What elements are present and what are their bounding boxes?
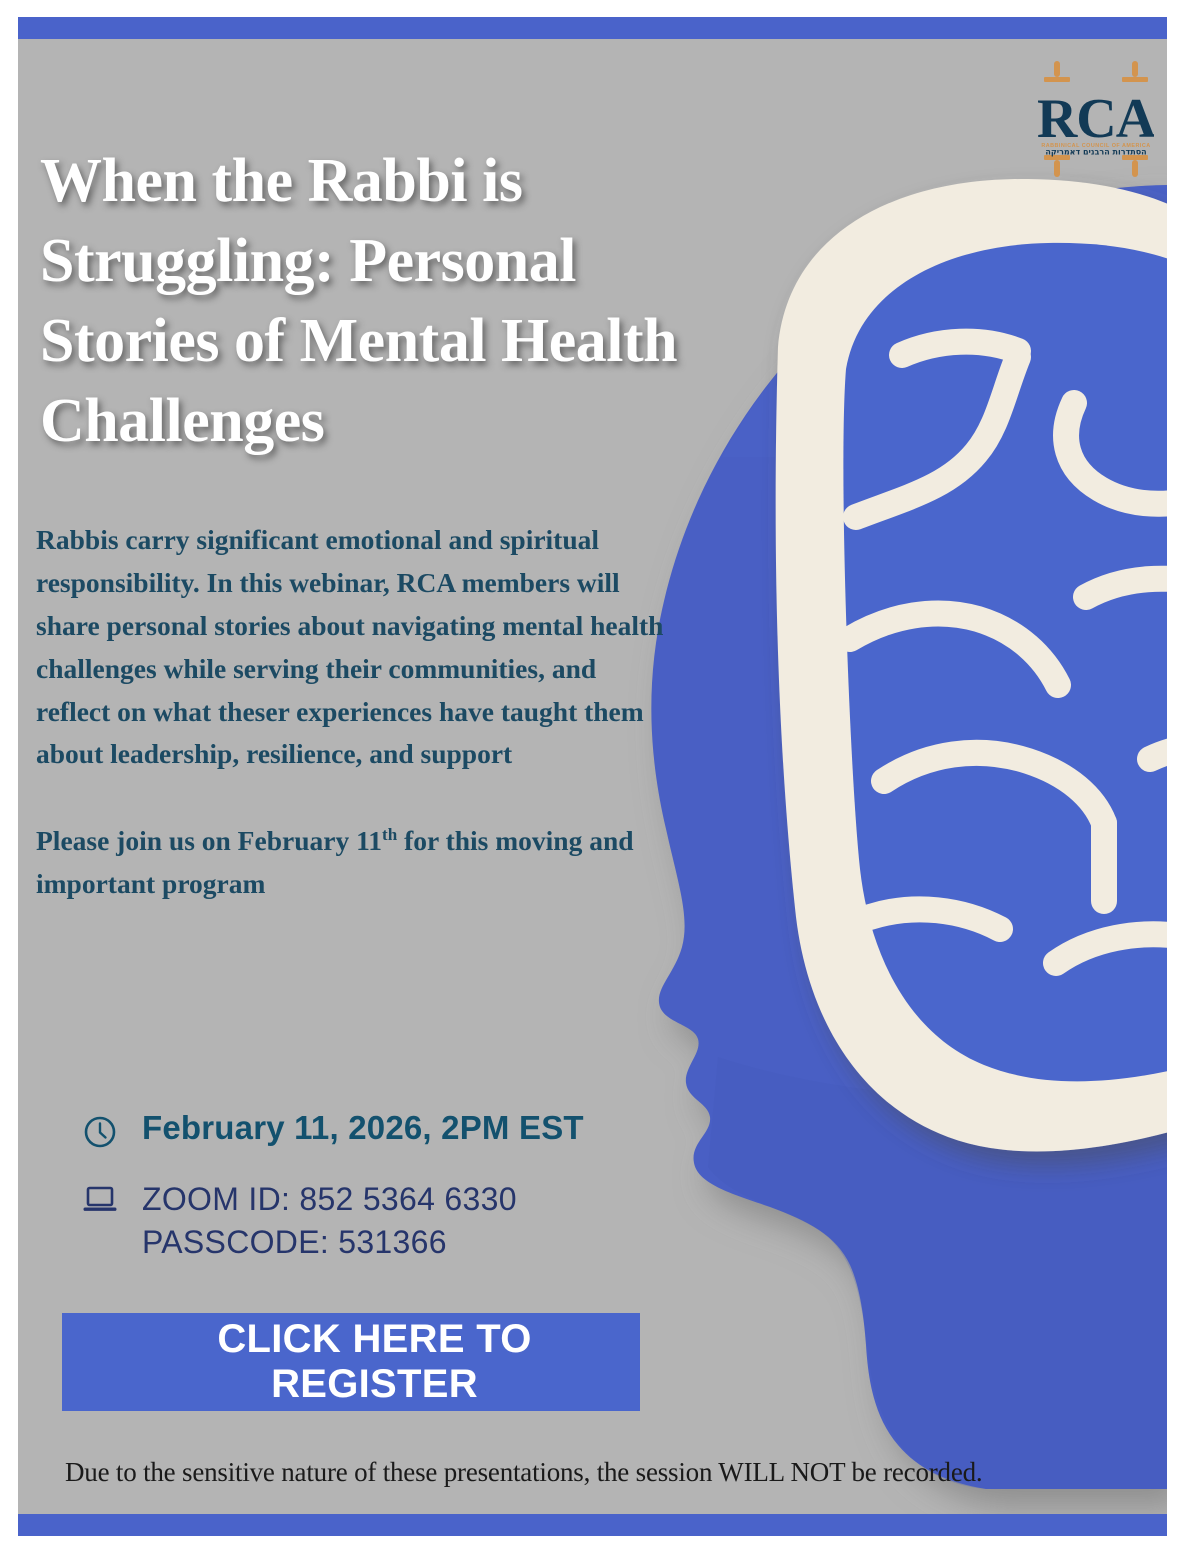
- register-button[interactable]: CLICK HERE TO REGISTER: [62, 1313, 640, 1411]
- description-paragraph-2: Please join us on February 11th for this…: [36, 820, 666, 906]
- event-datetime: February 11, 2026, 2PM EST: [142, 1110, 584, 1146]
- zoom-row: ZOOM ID: 852 5364 6330 PASSCODE: 531366: [80, 1178, 680, 1264]
- datetime-row: February 11, 2026, 2PM EST: [80, 1110, 680, 1152]
- clock-icon: [80, 1112, 120, 1152]
- bottom-accent-bar: [18, 1514, 1167, 1536]
- svg-text:הסתדרות הרבנים דאמריקה: הסתדרות הרבנים דאמריקה: [1045, 148, 1146, 157]
- join-text-before: Please join us on February 11: [36, 825, 382, 856]
- recording-disclaimer: Due to the sensitive nature of these pre…: [65, 1457, 1125, 1488]
- laptop-icon: [80, 1180, 120, 1220]
- register-button-label: CLICK HERE TO REGISTER: [109, 1317, 640, 1407]
- svg-text:RCA: RCA: [1038, 88, 1154, 150]
- rca-logo: RCA RABBINICAL COUNCIL OF AMERICA הסתדרו…: [1038, 55, 1154, 183]
- description-paragraph-1: Rabbis carry significant emotional and s…: [36, 519, 666, 776]
- zoom-passcode: PASSCODE: 531366: [142, 1221, 517, 1264]
- description-block: Rabbis carry significant emotional and s…: [36, 519, 666, 906]
- event-details: February 11, 2026, 2PM EST ZOOM ID: 852 …: [80, 1110, 680, 1264]
- zoom-credentials: ZOOM ID: 852 5364 6330 PASSCODE: 531366: [142, 1178, 517, 1264]
- page-title: When the Rabbi is Struggling: Personal S…: [40, 142, 740, 462]
- zoom-id: ZOOM ID: 852 5364 6330: [142, 1178, 517, 1221]
- flyer-page: RCA RABBINICAL COUNCIL OF AMERICA הסתדרו…: [0, 0, 1200, 1553]
- poster-frame: RCA RABBINICAL COUNCIL OF AMERICA הסתדרו…: [18, 17, 1167, 1536]
- top-accent-bar: [18, 17, 1167, 39]
- ordinal-suffix: th: [382, 825, 397, 844]
